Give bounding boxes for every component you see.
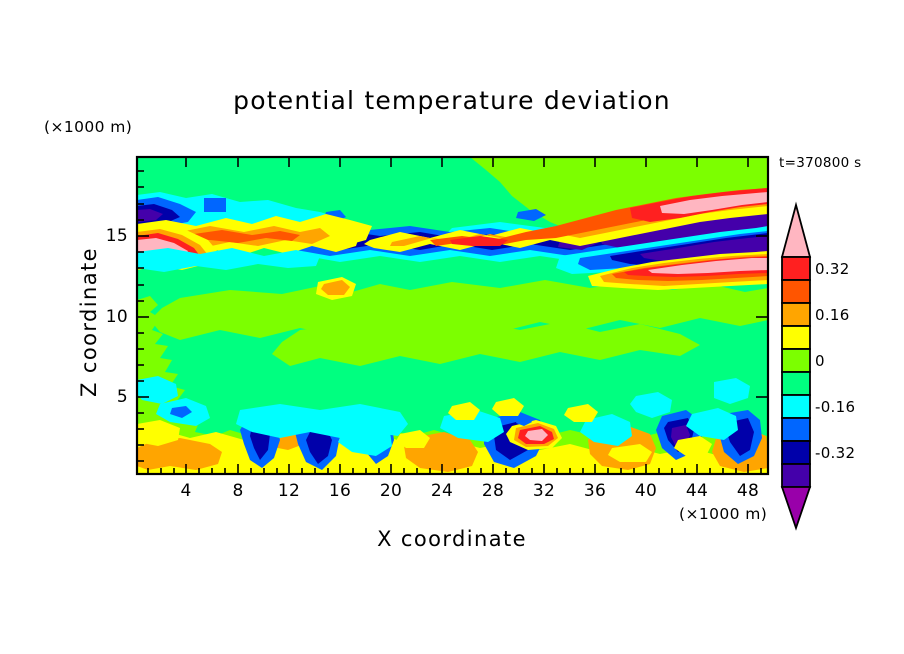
colorbar-band-cyan [782, 395, 810, 418]
colorbar-band-blue [782, 418, 810, 441]
colorbar-tick-label: -0.16 [815, 398, 855, 416]
x-tick-label: 40 [626, 481, 666, 501]
colorbar-arrow-top [782, 205, 810, 257]
y-tick-label: 10 [84, 307, 128, 327]
colorbar-arrow-bottom [782, 487, 810, 528]
x-tick-label: 12 [269, 481, 309, 501]
x-tick-label: 20 [371, 481, 411, 501]
contour-blob-blue-rect [204, 198, 226, 212]
colorbar-tick-label: 0.16 [815, 306, 850, 324]
x-tick-label: 48 [728, 481, 768, 501]
figure-root: potential temperature deviation (×1000 m… [0, 0, 904, 654]
colorbar-tick-label: 0.32 [815, 260, 850, 278]
colorbar-band-navy [782, 441, 810, 464]
colorbar-band-violet [782, 464, 810, 487]
y-tick-label: 5 [84, 387, 128, 407]
colorbar-band-yellowgreen [782, 349, 810, 372]
contour-field [137, 157, 768, 474]
contour-plot-svg [0, 0, 904, 654]
colorbar-tick-label: -0.32 [815, 444, 855, 462]
y-tick-label: 15 [84, 226, 128, 246]
x-tick-label: 4 [166, 481, 206, 501]
colorbar[interactable] [782, 205, 810, 528]
x-tick-label: 36 [575, 481, 615, 501]
colorbar-band-yellow [782, 326, 810, 349]
x-tick-label: 16 [320, 481, 360, 501]
colorbar-band-orange [782, 303, 810, 326]
colorbar-band-orangered [782, 280, 810, 303]
colorbar-tick-label: 0 [815, 352, 825, 370]
x-tick-label: 8 [218, 481, 258, 501]
x-tick-label: 32 [524, 481, 564, 501]
colorbar-band-springgreen [782, 372, 810, 395]
x-tick-label: 28 [473, 481, 513, 501]
colorbar-band-red [782, 257, 810, 280]
x-tick-label: 24 [422, 481, 462, 501]
x-tick-label: 44 [677, 481, 717, 501]
